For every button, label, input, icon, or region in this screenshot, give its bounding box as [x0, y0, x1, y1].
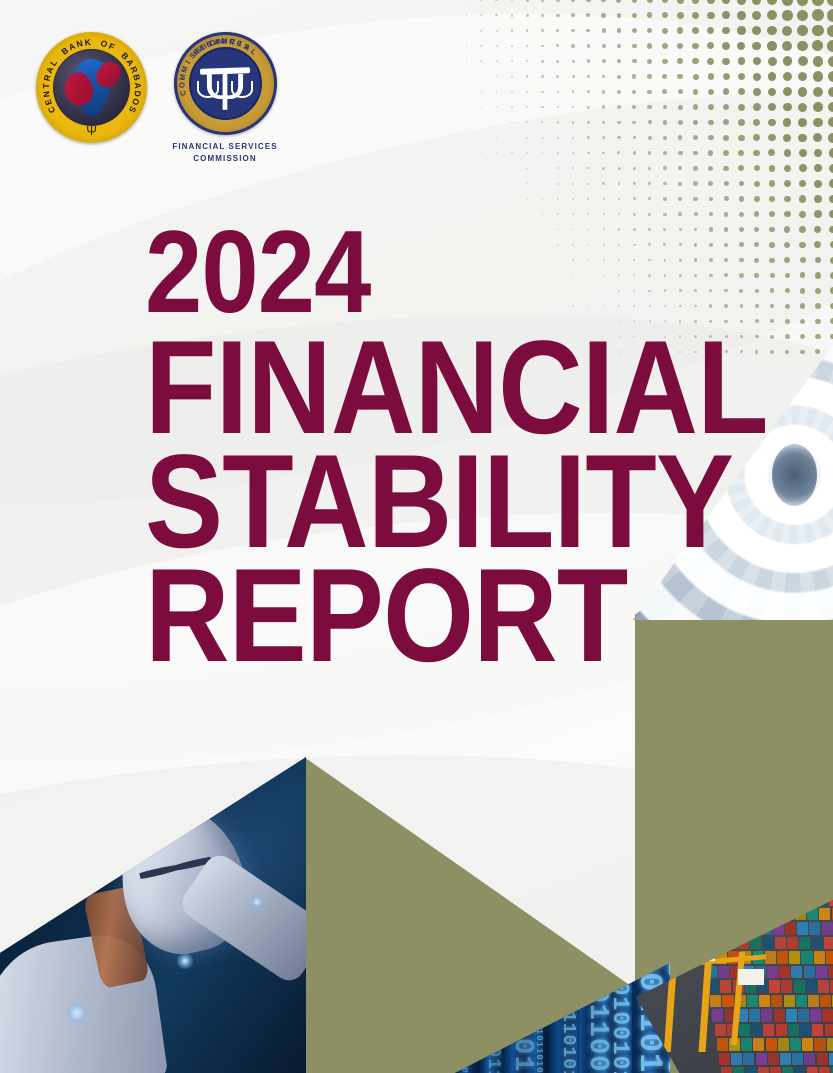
halftone-dot [541, 0, 544, 2]
halftone-dot [481, 137, 482, 138]
seal-ring-char: I [184, 58, 193, 65]
halftone-dot [511, 122, 513, 124]
shipping-container [765, 951, 776, 963]
halftone-dot [466, 122, 467, 123]
halftone-dot [602, 75, 606, 79]
halftone-dot [709, 197, 714, 202]
seal-ring-char: N [217, 36, 224, 46]
halftone-dot [466, 45, 467, 47]
halftone-dot [799, 149, 807, 157]
halftone-dot [662, 74, 667, 79]
halftone-dot [632, 44, 637, 49]
shipping-container [782, 1067, 793, 1073]
halftone-dot [556, 44, 559, 47]
seal-ring-char: A [132, 82, 142, 89]
halftone-dot [511, 0, 514, 1]
halftone-dot [754, 211, 760, 217]
halftone-dot [783, 134, 791, 142]
halftone-dot [663, 213, 666, 216]
shipping-container [710, 995, 721, 1007]
halftone-dot [722, 58, 729, 65]
shipping-container [778, 1038, 789, 1050]
shipping-container [789, 951, 800, 963]
halftone-dot [708, 135, 714, 141]
halftone-dot [496, 183, 497, 184]
halftone-dot [769, 165, 776, 172]
halftone-dot [481, 214, 482, 215]
halftone-dot [754, 181, 760, 187]
halftone-dot [633, 136, 637, 140]
halftone-dot [768, 134, 775, 141]
halftone-dot [632, 0, 638, 3]
halftone-dot [677, 74, 683, 80]
halftone-dot [601, 13, 606, 18]
halftone-dot [812, 0, 824, 6]
fsc-caption-line-1: FINANCIAL SERVICES [165, 141, 285, 153]
halftone-dot [753, 119, 760, 126]
halftone-dot [827, 9, 833, 22]
halftone-dot [556, 60, 559, 63]
halftone-dot [647, 12, 653, 18]
halftone-dot [633, 213, 636, 216]
halftone-dot [738, 165, 744, 171]
halftone-dot [527, 198, 529, 200]
halftone-dot [782, 41, 792, 51]
halftone-dot [739, 212, 744, 217]
halftone-dot [541, 121, 543, 123]
halftone-dot [829, 195, 833, 203]
halftone-dot [723, 135, 729, 141]
halftone-dot [496, 168, 497, 169]
cover-title-block: 2024 FINANCIAL STABILITY REPORT [145, 222, 833, 674]
shipping-container [790, 1038, 801, 1050]
halftone-dot [556, 29, 559, 32]
halftone-dot [556, 0, 560, 2]
halftone-dot [799, 195, 806, 202]
halftone-dot [496, 152, 497, 153]
shipping-container [780, 1053, 791, 1065]
halftone-dot [693, 135, 698, 140]
halftone-dot [481, 106, 483, 108]
halftone-dot [678, 105, 683, 110]
halftone-dot [768, 72, 777, 81]
halftone-dot [587, 167, 589, 169]
halftone-dot [799, 211, 806, 218]
shipping-container [758, 1067, 769, 1073]
halftone-dot [828, 56, 833, 67]
seal-ring-char: T [40, 82, 50, 88]
shipping-container [741, 1038, 752, 1050]
halftone-dot [782, 10, 793, 21]
halftone-dot [572, 106, 575, 109]
crane-cabin [738, 969, 764, 985]
halftone-dot [812, 9, 824, 21]
halftone-dot [526, 45, 529, 48]
shipping-container [800, 1024, 811, 1036]
shipping-container [775, 937, 786, 949]
halftone-dot [752, 11, 761, 20]
report-cover-page: 1011001011010101100101101001011010011010… [0, 0, 833, 1073]
halftone-dot [707, 0, 715, 4]
halftone-dot [647, 43, 652, 48]
shipping-container [812, 937, 823, 949]
seal-ring-char [94, 37, 98, 47]
shipping-container [774, 1009, 785, 1021]
halftone-dot [587, 213, 589, 215]
halftone-dot [814, 149, 823, 158]
halftone-dot [466, 198, 467, 199]
halftone-dot [693, 151, 698, 156]
halftone-dot [556, 14, 560, 18]
halftone-dot [677, 0, 684, 4]
halftone-dot [542, 152, 544, 154]
halftone-dot [602, 44, 606, 48]
shipping-container [756, 1053, 767, 1065]
trident-icon: Ψ [86, 124, 97, 137]
halftone-dot [814, 180, 822, 188]
halftone-dot [678, 166, 682, 170]
halftone-dot [511, 168, 513, 170]
halftone-dot [722, 27, 730, 35]
halftone-dot [557, 91, 560, 94]
halftone-dot [466, 106, 467, 107]
shipping-container [712, 1009, 723, 1021]
halftone-dot [557, 121, 559, 123]
halftone-dot [752, 26, 761, 35]
halftone-dot [753, 73, 761, 81]
halftone-dot [783, 56, 793, 66]
halftone-dot [511, 76, 513, 78]
halftone-dot [526, 106, 528, 108]
halftone-dot [647, 28, 653, 34]
halftone-dot [496, 76, 498, 78]
shipping-container [766, 1038, 777, 1050]
seal-ring-char: N [41, 90, 52, 98]
halftone-dot [511, 106, 513, 108]
shipping-container [812, 1024, 823, 1036]
halftone-dot [511, 214, 512, 215]
halftone-dot [496, 106, 498, 108]
seal-ring-char: K [84, 36, 92, 47]
halftone-dot [737, 11, 746, 20]
halftone-dot [677, 58, 683, 64]
halftone-dot [738, 119, 745, 126]
halftone-dot [813, 133, 822, 142]
halftone-dot [828, 102, 833, 112]
halftone-dot [542, 213, 544, 215]
halftone-dot [708, 166, 713, 171]
halftone-dot [723, 73, 730, 80]
shipping-container [794, 1067, 805, 1073]
halftone-dot [616, 0, 621, 3]
shipping-container [791, 966, 802, 978]
halftone-dot [754, 196, 760, 202]
halftone-dot [723, 88, 730, 95]
shipping-container [808, 995, 819, 1007]
halftone-dot [678, 212, 682, 216]
halftone-dot [648, 197, 651, 200]
halftone-dot [813, 118, 822, 127]
robot-light [251, 896, 263, 908]
shipping-container [828, 966, 833, 978]
seal-ring-char: O [177, 81, 186, 87]
halftone-dot [572, 60, 575, 63]
halftone-dot [799, 164, 807, 172]
halftone-dot [738, 57, 746, 65]
shipping-container [781, 980, 792, 992]
halftone-dot [466, 168, 467, 169]
halftone-dot [677, 12, 684, 19]
halftone-dot [526, 168, 528, 170]
shipping-container [777, 951, 788, 963]
halftone-dot [753, 57, 761, 65]
halftone-dot [752, 0, 762, 5]
halftone-dot [648, 167, 652, 171]
halftone-dot [737, 26, 746, 35]
shipping-container [806, 980, 817, 992]
halftone-dot [481, 183, 482, 184]
halftone-dot [618, 182, 621, 185]
halftone-dot [571, 0, 575, 2]
halftone-dot [768, 103, 776, 111]
halftone-dot [814, 210, 822, 218]
halftone-dot [663, 151, 667, 155]
halftone-dot [526, 75, 528, 77]
halftone-dot [527, 214, 528, 215]
halftone-dot [707, 58, 714, 65]
halftone-dot [496, 60, 498, 62]
shipping-container [761, 1009, 772, 1021]
halftone-dot [541, 106, 543, 108]
halftone-dot [586, 29, 590, 33]
halftone-dot [466, 76, 467, 78]
halftone-dot [541, 45, 544, 48]
halftone-dot [526, 121, 528, 123]
halftone-dot [799, 180, 807, 188]
fsc-logo-block: FINANCIALSERVICESCOMMISSION Ψ FINANCIAL … [165, 32, 285, 164]
halftone-dot [572, 213, 574, 215]
halftone-dot [708, 181, 713, 186]
shipping-container [751, 1024, 762, 1036]
halftone-dot [663, 166, 667, 170]
halftone-dot [603, 198, 605, 200]
shipping-container [785, 922, 796, 934]
halftone-dot [797, 10, 808, 21]
halftone-dot [827, 25, 833, 37]
shipping-container [770, 1067, 781, 1073]
shipping-container [809, 922, 820, 934]
halftone-dot [511, 198, 512, 199]
shipping-container [819, 1067, 830, 1073]
halftone-dot [602, 59, 606, 63]
halftone-dot [481, 76, 483, 78]
halftone-dot [557, 213, 559, 215]
halftone-dot [466, 0, 467, 1]
shipping-container [829, 1053, 833, 1065]
halftone-dot [617, 75, 621, 79]
halftone-dot [662, 0, 669, 3]
halftone-dot [526, 137, 528, 139]
halftone-dot [693, 104, 699, 110]
halftone-dot [722, 0, 731, 4]
halftone-dot [784, 180, 791, 187]
robot-light [177, 953, 193, 969]
halftone-dot [496, 214, 497, 215]
shipping-container [753, 1038, 764, 1050]
fsc-logo-caption: FINANCIAL SERVICES COMMISSION [165, 141, 285, 164]
halftone-dot [708, 104, 714, 110]
shipping-container [792, 1053, 803, 1065]
halftone-dot [692, 58, 698, 64]
halftone-dot [617, 13, 622, 18]
halftone-dot [617, 105, 621, 109]
halftone-dot [633, 151, 636, 154]
shipping-container [788, 1024, 799, 1036]
halftone-dot [678, 197, 682, 201]
halftone-dot [813, 87, 823, 97]
shipping-container [768, 1053, 779, 1065]
halftone-dot [692, 0, 700, 4]
halftone-dot [693, 197, 697, 201]
halftone-dot [769, 211, 775, 217]
halftone-dot [526, 60, 528, 62]
logo-row: CENTRAL BANK OF BARBADOS Ψ FINANCIALSERV… [36, 32, 285, 164]
halftone-dot [511, 60, 513, 62]
halftone-dot [601, 0, 606, 2]
halftone-dot [633, 197, 636, 200]
halftone-dot [829, 210, 833, 218]
halftone-dot [753, 103, 761, 111]
halftone-dot [602, 152, 605, 155]
halftone-dot [542, 137, 544, 139]
halftone-dot [724, 196, 729, 201]
halftone-dot [784, 149, 792, 157]
halftone-dot [663, 197, 667, 201]
halftone-dot [768, 57, 777, 66]
shipping-container [810, 1009, 821, 1021]
halftone-dot [541, 91, 543, 93]
halftone-dot [813, 102, 823, 112]
halftone-dot [677, 43, 683, 49]
halftone-dot [572, 183, 574, 185]
halftone-dot [738, 135, 744, 141]
halftone-dot [662, 12, 668, 18]
shipping-container [743, 1053, 754, 1065]
halftone-dot [724, 212, 729, 217]
halftone-dot [617, 44, 622, 49]
shipping-container [771, 995, 782, 1007]
shipping-container [824, 937, 833, 949]
halftone-dot [827, 40, 833, 52]
halftone-dot [571, 13, 575, 17]
halftone-dot [648, 213, 651, 216]
halftone-dot [602, 121, 605, 124]
halftone-dot [723, 166, 729, 172]
halftone-dot [754, 165, 760, 171]
halftone-dot [617, 59, 621, 63]
halftone-dot [603, 213, 605, 215]
shipping-container [739, 1024, 750, 1036]
halftone-dot [466, 183, 467, 184]
halftone-dot [466, 91, 467, 93]
halftone-dot [511, 137, 513, 139]
halftone-dot [678, 120, 683, 125]
halftone-dot [586, 13, 590, 17]
shipping-container [801, 951, 812, 963]
shipping-container [804, 966, 815, 978]
halftone-dot [571, 29, 575, 33]
halftone-dot [814, 164, 822, 172]
shipping-container [798, 1009, 809, 1021]
seal-ring-char: B [131, 73, 142, 82]
halftone-dot [617, 28, 622, 33]
halftone-dot [587, 59, 591, 63]
halftone-dot [480, 0, 482, 1]
halftone-dot [784, 165, 791, 172]
halftone-dot [602, 136, 605, 139]
halftone-dot [526, 29, 529, 32]
shipping-container [822, 922, 833, 934]
halftone-dot [587, 121, 590, 124]
halftone-dot [541, 60, 544, 63]
shipping-container [767, 966, 778, 978]
halftone-dot [738, 150, 744, 156]
halftone-dot [813, 71, 823, 81]
halftone-dot [783, 103, 792, 112]
halftone-dot [632, 28, 637, 33]
halftone-dot [753, 88, 761, 96]
halftone-dot [678, 135, 683, 140]
halftone-dot [496, 137, 498, 139]
halftone-dot [632, 105, 636, 109]
halftone-dot [526, 14, 529, 17]
halftone-dot [632, 90, 636, 94]
halftone-dot [587, 106, 590, 109]
shipping-container [769, 980, 780, 992]
halftone-dot [829, 148, 833, 157]
halftone-dot [693, 166, 698, 171]
halftone-dot [496, 198, 497, 199]
shipping-container [817, 1053, 828, 1065]
shipping-container [786, 1009, 797, 1021]
central-bank-seal-inner [53, 49, 130, 126]
shipping-container [799, 937, 810, 949]
halftone-dot [783, 87, 792, 96]
halftone-dot [783, 72, 792, 81]
halftone-dot [693, 181, 697, 185]
shipping-container [820, 995, 831, 1007]
halftone-dot [526, 0, 529, 2]
halftone-dot [602, 105, 605, 108]
halftone-dot [812, 40, 823, 51]
halftone-dot [782, 0, 793, 6]
shipping-container [720, 980, 731, 992]
shipping-container [825, 1024, 833, 1036]
halftone-dot [798, 103, 807, 112]
shipping-container [827, 1038, 833, 1050]
halftone-dot [662, 89, 667, 94]
halftone-dot [647, 90, 652, 95]
halftone-dot [767, 10, 777, 20]
page-title-line-3: REPORT [145, 559, 768, 673]
halftone-dot [587, 198, 589, 200]
halftone-dot [693, 89, 699, 95]
halftone-dot [813, 56, 824, 67]
halftone-dot [571, 44, 574, 47]
shipping-container [733, 1067, 744, 1073]
halftone-dot [737, 42, 745, 50]
seal-ring-char: D [132, 90, 143, 98]
